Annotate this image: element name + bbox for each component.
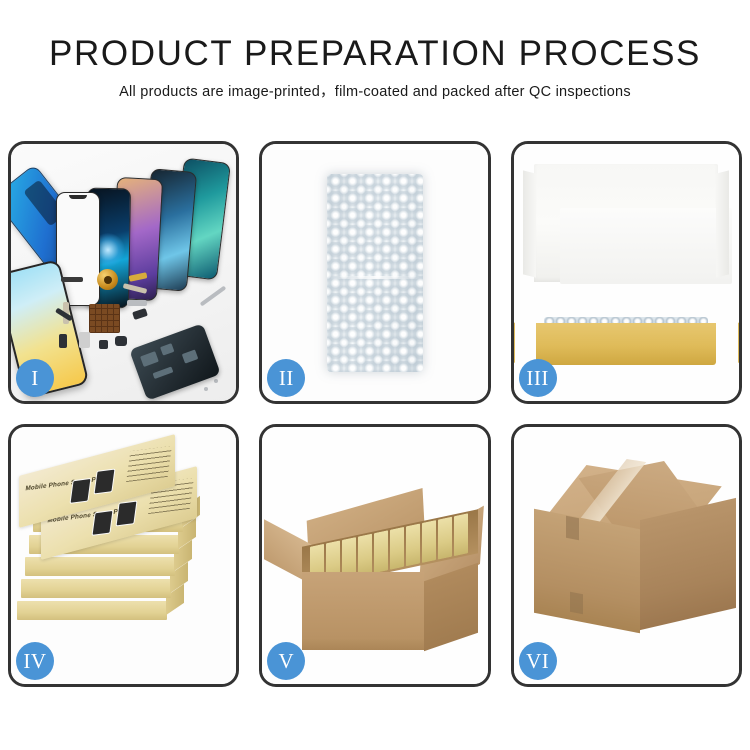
retail-box-slab-5 [17, 601, 167, 620]
carton-handle-slot-top [566, 516, 579, 541]
retail-box-slab-4 [21, 579, 171, 598]
packed-box [374, 530, 388, 573]
product-preparation-process-page: PRODUCT PREPARATION PROCESS All products… [0, 0, 750, 750]
packed-box [406, 523, 420, 566]
mailer-box-tray-icon [536, 323, 716, 365]
header: PRODUCT PREPARATION PROCESS All products… [0, 34, 750, 102]
mailer-box-lid-icon [534, 164, 718, 282]
page-title: PRODUCT PREPARATION PROCESS [0, 34, 750, 74]
part-vibrator [59, 334, 67, 348]
board-chip-1 [140, 351, 159, 367]
board-chip-4 [153, 367, 174, 379]
bubble-pattern-secondary [327, 174, 423, 372]
part-bracket-1 [127, 300, 147, 306]
packed-box [358, 534, 372, 577]
process-step-panel-2: II [259, 141, 490, 404]
packed-box [454, 513, 468, 556]
bubble-wrap-pouch-icon [327, 174, 423, 372]
retail-box-window-2a [91, 510, 113, 536]
process-step-panel-6: VI [511, 424, 742, 687]
step-badge-6: VI [519, 642, 557, 680]
retail-box-window-1b [93, 468, 115, 494]
sealed-carton-side-face [640, 498, 736, 630]
pouch-seam [331, 276, 419, 279]
retail-box-slab-3 [25, 557, 175, 576]
packed-box [422, 520, 436, 563]
board-chip-3 [182, 349, 199, 363]
process-step-panel-1: I [8, 141, 239, 404]
retail-box-window-2b [115, 500, 137, 526]
connector-grid-part-icon [89, 304, 120, 333]
box-tray-right-face [738, 322, 739, 367]
part-camera-module [79, 332, 90, 348]
step-badge-3: III [519, 359, 557, 397]
board-chip-2 [160, 343, 174, 356]
process-step-panel-4: Mobile Phone Spare Parts Mobile Phone Sp… [8, 424, 239, 687]
retail-box-window-1a [69, 478, 91, 504]
foam-insert [560, 208, 732, 284]
process-step-grid: I II [8, 141, 742, 687]
carton-handle-slot-bottom [570, 592, 583, 615]
page-subtitle: All products are image-printed，film-coat… [0, 83, 750, 102]
carton-front-face [302, 572, 424, 650]
step-badge-1: I [16, 359, 54, 397]
sealed-carton-front-face [534, 509, 640, 634]
copper-coil-part-icon [97, 269, 118, 290]
process-step-panel-5: V [259, 424, 490, 687]
packed-box [438, 517, 452, 560]
retail-box-spec-lines-1 [126, 446, 172, 482]
retail-box-stack: Mobile Phone Spare Parts Mobile Phone Sp… [17, 451, 235, 635]
part-speaker-bar [61, 277, 83, 282]
process-step-panel-3: III [511, 141, 742, 404]
part-button-2 [115, 336, 127, 346]
part-button-1 [99, 340, 108, 349]
box-tray-left-face [514, 322, 515, 367]
step-badge-4: IV [16, 642, 54, 680]
packed-box [390, 527, 404, 570]
